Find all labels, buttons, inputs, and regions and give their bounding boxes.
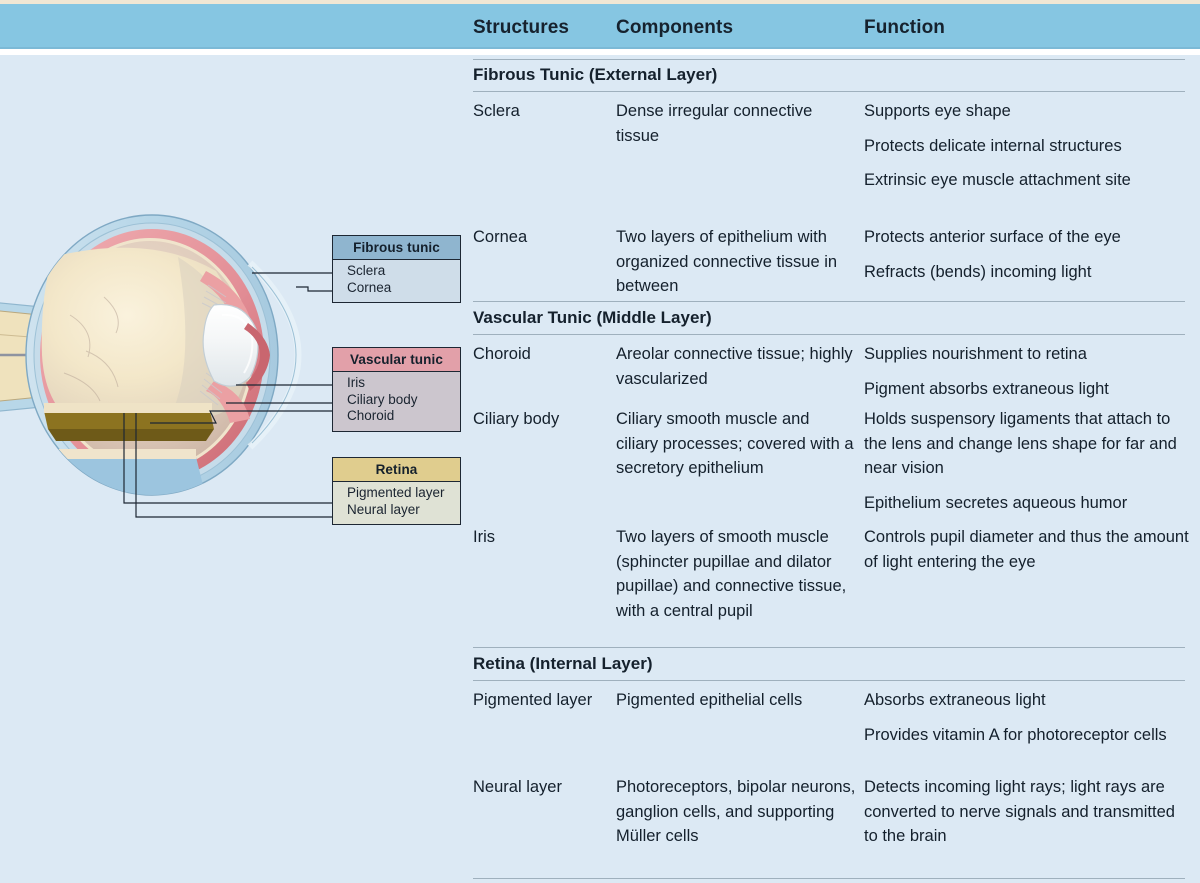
section-rule-retina-top (473, 647, 1185, 648)
section-heading-fibrous-tunic: Fibrous Tunic (External Layer) (473, 65, 717, 85)
legend-items-vascular-tunic: Iris Ciliary body Choroid (333, 372, 460, 431)
legend-item-ciliary-body: Ciliary body (347, 392, 460, 409)
section-heading-vascular-tunic: Vascular Tunic (Middle Layer) (473, 308, 712, 328)
structures-table: Fibrous Tunic (External Layer) Sclera De… (462, 55, 1200, 883)
table-cell-components: Two layers of epithelium with organized … (616, 225, 856, 299)
table-cell-components: Two layers of smooth muscle (sphincter p… (616, 525, 856, 623)
column-header-components: Components (616, 17, 733, 39)
table-cell-components: Areolar connective tissue; highly vascul… (616, 342, 856, 391)
section-rule-fibrous (473, 91, 1185, 92)
table-cell-function: Supports eye shape Protects delicate int… (864, 99, 1189, 193)
eye-figure-panel: Fibrous tunic Sclera Cornea Vascular tun… (0, 55, 462, 883)
table-header-band: Structures Components Function (0, 4, 1200, 49)
table-row: Cornea (473, 225, 623, 250)
table-cell-function: Supplies nourishment to retina Pigment a… (864, 342, 1189, 401)
legend-item-sclera: Sclera (347, 263, 460, 280)
section-rule-vascular (473, 334, 1185, 335)
table-row: Pigmented layer (473, 688, 623, 713)
table-cell-function: Controls pupil diameter and thus the amo… (864, 525, 1189, 574)
legend-title-fibrous-tunic: Fibrous tunic (333, 236, 460, 260)
section-rule-retina (473, 680, 1185, 681)
legend-items-retina: Pigmented layer Neural layer (333, 482, 460, 524)
table-cell-components: Ciliary smooth muscle and ciliary proces… (616, 407, 856, 481)
table-row: Neural layer (473, 775, 623, 800)
section-heading-retina: Retina (Internal Layer) (473, 654, 653, 674)
table-cell-function: Detects incoming light rays; light rays … (864, 775, 1189, 849)
table-row: Iris (473, 525, 623, 550)
legend-box-retina: Retina Pigmented layer Neural layer (332, 457, 461, 525)
table-cell-function: Holds suspensory ligaments that attach t… (864, 407, 1189, 515)
section-rule-top (473, 59, 1185, 60)
legend-item-choroid: Choroid (347, 408, 460, 425)
section-rule-vascular-top (473, 301, 1185, 302)
column-header-function: Function (864, 17, 945, 39)
legend-box-fibrous-tunic: Fibrous tunic Sclera Cornea (332, 235, 461, 303)
legend-items-fibrous-tunic: Sclera Cornea (333, 260, 460, 302)
table-cell-components: Pigmented epithelial cells (616, 688, 856, 713)
legend-box-vascular-tunic: Vascular tunic Iris Ciliary body Choroid (332, 347, 461, 432)
table-cell-function: Absorbs extraneous light Provides vitami… (864, 688, 1189, 747)
legend-item-pigmented-layer: Pigmented layer (347, 485, 460, 502)
column-header-structures: Structures (473, 17, 569, 39)
legend-title-retina: Retina (333, 458, 460, 482)
table-row: Sclera (473, 99, 623, 124)
legend-item-neural-layer: Neural layer (347, 502, 460, 519)
legend-item-cornea: Cornea (347, 280, 460, 297)
legend-item-iris: Iris (347, 375, 460, 392)
table-cell-components: Dense irregular connective tissue (616, 99, 856, 148)
section-rule-bottom (473, 878, 1185, 879)
table-cell-function: Protects anterior surface of the eye Ref… (864, 225, 1189, 284)
table-row: Choroid (473, 342, 623, 367)
legend-title-vascular-tunic: Vascular tunic (333, 348, 460, 372)
table-row: Ciliary body (473, 407, 623, 432)
table-cell-components: Photoreceptors, bipolar neurons, ganglio… (616, 775, 856, 849)
